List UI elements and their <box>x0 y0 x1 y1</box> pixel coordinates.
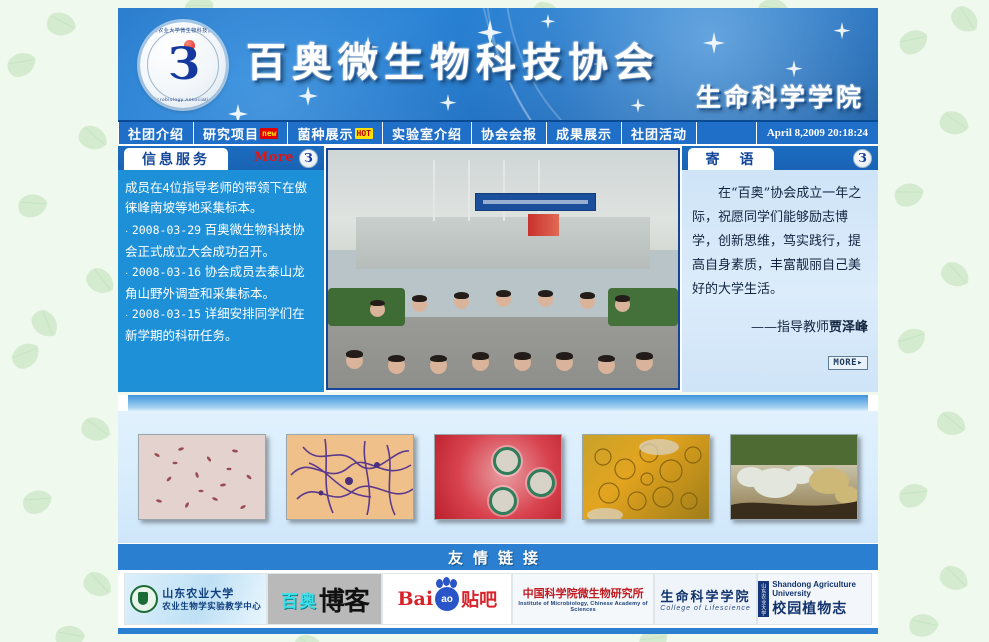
link-college-of-life-sciences[interactable]: 生命科学学院 College of Lifescience <box>654 573 757 625</box>
nav-label: 成果展示 <box>556 124 612 143</box>
person-figure <box>370 302 385 317</box>
link-line-3: 贴吧 <box>461 586 497 612</box>
person-head <box>370 302 385 317</box>
person-figure <box>472 354 489 371</box>
photo-red-banner <box>528 214 560 235</box>
hot-badge-icon: HOT <box>355 128 373 139</box>
bottom-strip <box>118 628 878 634</box>
photo-building <box>356 217 650 269</box>
info-panel-tab[interactable]: 信息服务 <box>124 148 228 170</box>
gallery-image-5[interactable] <box>730 434 858 520</box>
bacteria-smear-graphic <box>139 435 266 520</box>
news-date: 2008-03-15 <box>132 307 201 321</box>
antibiotic-disc <box>493 447 521 475</box>
gallery-image-4[interactable] <box>582 434 710 520</box>
main-navigation: 社团介绍 研究项目 new 菌种展示 HOT 实验室介绍 协会会报 成果展示 社… <box>118 122 878 146</box>
paw-icon: ao <box>435 587 459 611</box>
person-figure <box>538 292 553 307</box>
news-lead-text: 成员在4位指导老师的带领下在傲徕峰南坡等地采集标本。 <box>125 178 317 218</box>
link-line-2: ao <box>441 594 453 605</box>
person-head <box>636 354 653 371</box>
gallery-divider-bar <box>128 395 868 411</box>
link-baiao-blog[interactable]: 百奥 博客 <box>267 573 382 625</box>
signature-name: 贾泽峰 <box>829 320 868 335</box>
nav-label: 协会会报 <box>481 124 537 143</box>
nav-label: 实验室介绍 <box>392 124 462 143</box>
photo-flagpole <box>503 160 505 222</box>
current-datetime: April 8,2009 20:18:24 <box>756 122 878 144</box>
person-head <box>538 292 553 307</box>
antibiotic-disc <box>489 487 517 515</box>
site-banner: 山东农业大学微生物科技协会 З Microbiology Association… <box>118 8 878 122</box>
university-emblem-icon <box>130 585 158 613</box>
person-head <box>454 294 469 309</box>
antibiotic-disc <box>527 469 555 497</box>
message-panel-body: 在“百奥”协会成立一年之际，祝愿同学们能够励志博学，创新思维，笃实践行，提高自身… <box>682 170 878 392</box>
link-line-2: College of Lifescience <box>660 605 751 612</box>
photo-banner-sign <box>475 193 596 212</box>
person-head <box>580 294 595 309</box>
news-item[interactable]: · 2008-03-15 详细安排同学们在新学期的科研任务。 <box>125 304 317 346</box>
photo-hedge-left <box>328 288 405 326</box>
message-text: 在“百奥”协会成立一年之际，祝愿同学们能够励志博学，创新思维，笃实践行，提高自身… <box>692 182 868 302</box>
link-line-1: Bai <box>398 588 434 610</box>
nav-item-bulletin[interactable]: 协会会报 <box>472 122 547 144</box>
person-head <box>496 292 511 307</box>
link-line-1: 山东农业大学 <box>162 587 261 601</box>
nav-label: 研究项目 <box>203 124 259 143</box>
nav-item-research-projects[interactable]: 研究项目 new <box>194 122 288 144</box>
person-head <box>412 297 427 312</box>
bullet-icon: · <box>125 268 128 279</box>
logo-ring-text-bottom: Microbiology Association <box>140 97 226 102</box>
info-panel-body: 成员在4位指导老师的带领下在傲徕峰南坡等地采集标本。 · 2008-03-29 … <box>118 170 324 384</box>
link-line-2: 校园植物志 <box>772 598 871 618</box>
link-line-1: Shandong Agriculture University <box>772 580 871 598</box>
logo-mark: З <box>140 42 226 88</box>
association-logo[interactable]: 山东农业大学微生物科技协会 З Microbiology Association <box>140 22 226 108</box>
person-figure <box>346 352 363 369</box>
info-panel-header: 信息服务 More З <box>118 146 324 170</box>
friend-links-row: 山东农业大学 农业生物学实验教学中心 百奥 博客 Bai ao 贴吧 中国科学院… <box>118 570 878 628</box>
foliose-lichen-graphic <box>731 435 858 520</box>
info-service-panel: 信息服务 More З 成员在4位指导老师的带领下在傲徕峰南坡等地采集标本。 ·… <box>118 146 324 392</box>
nav-label: 菌种展示 <box>297 124 353 143</box>
person-figure <box>636 354 653 371</box>
person-head <box>598 357 615 374</box>
gallery-strip <box>118 411 878 543</box>
nav-item-activities[interactable]: 社团活动 <box>622 122 697 144</box>
person-figure <box>598 357 615 374</box>
photo-ground <box>328 317 678 388</box>
person-figure <box>556 354 573 371</box>
message-more-button[interactable]: MORE▸ <box>828 356 868 370</box>
panel-logo-icon: З <box>299 149 318 168</box>
site-title: 百奥微生物科技协会 <box>246 30 660 88</box>
new-badge-icon: new <box>260 128 278 139</box>
news-date: 2008-03-16 <box>132 265 201 279</box>
message-panel-tab[interactable]: 寄 语 <box>688 148 774 170</box>
link-shandong-agricultural-university[interactable]: 山东农业大学 农业生物学实验教学中心 <box>124 573 267 625</box>
photo-flagpole <box>433 160 435 222</box>
person-head <box>346 352 363 369</box>
link-baidu-tieba[interactable]: Bai ao 贴吧 <box>382 573 512 625</box>
actinomycete-hyphae-graphic <box>287 435 414 520</box>
link-line-1: 生命科学学院 <box>660 586 751 605</box>
person-figure <box>615 297 630 312</box>
logo-ring-text-top: 山东农业大学微生物科技协会 <box>140 27 226 34</box>
nav-item-achievements[interactable]: 成果展示 <box>547 122 622 144</box>
photo-flagpole <box>538 160 540 222</box>
person-head <box>556 354 573 371</box>
group-photo[interactable] <box>326 148 680 390</box>
person-figure <box>454 294 469 309</box>
link-campus-flora[interactable]: 山东农业大学 Shandong Agriculture University 校… <box>757 573 872 625</box>
person-figure <box>580 294 595 309</box>
gallery-image-3[interactable] <box>434 434 562 520</box>
nav-label: 社团活动 <box>631 124 687 143</box>
person-figure <box>412 297 427 312</box>
person-figure <box>496 292 511 307</box>
news-item[interactable]: · 2008-03-16 协会成员去泰山龙角山野外调查和采集标本。 <box>125 262 317 304</box>
site-subtitle: 生命科学学院 <box>696 78 864 114</box>
link-institute-of-microbiology-cas[interactable]: 中国科学院微生物研究所 Institute of Microbiology, C… <box>512 573 654 625</box>
message-signature: ——指导教师贾泽峰 <box>692 316 868 335</box>
nav-item-lab-intro[interactable]: 实验室介绍 <box>383 122 472 144</box>
gallery-section <box>118 395 878 543</box>
person-head <box>430 357 447 374</box>
nav-item-club-intro[interactable]: 社团介绍 <box>118 122 194 144</box>
news-date: 2008-03-29 <box>132 223 201 237</box>
bullet-icon: · <box>125 310 128 321</box>
nav-item-strain-display[interactable]: 菌种展示 HOT <box>288 122 382 144</box>
person-figure <box>430 357 447 374</box>
person-figure <box>388 357 405 374</box>
panel-logo-icon: З <box>853 149 872 168</box>
link-side-text: 山东农业大学 <box>758 581 769 617</box>
gallery-image-2[interactable] <box>286 434 414 520</box>
message-panel: 寄 语 З 在“百奥”协会成立一年之际，祝愿同学们能够励志博学，创新思维，笃实践… <box>682 146 878 392</box>
link-line-1: 中国科学院微生物研究所 <box>513 585 653 601</box>
link-line-2: 农业生物学实验教学中心 <box>162 601 261 612</box>
photo-flagpole <box>468 160 470 222</box>
link-line-2: 博客 <box>319 581 369 618</box>
news-item[interactable]: · 2008-03-29 百奥微生物科技协会正式成立大会成功召开。 <box>125 220 317 262</box>
nav-label: 社团介绍 <box>128 124 184 143</box>
gallery-image-1[interactable] <box>138 434 266 520</box>
orange-lichen-graphic <box>583 435 710 520</box>
bullet-icon: · <box>125 226 128 237</box>
feature-photo-panel <box>324 146 682 392</box>
person-head <box>388 357 405 374</box>
page-container: 山东农业大学微生物科技协会 З Microbiology Association… <box>118 8 878 642</box>
content-row: 信息服务 More З 成员在4位指导老师的带领下在傲徕峰南坡等地采集标本。 ·… <box>118 146 878 392</box>
person-figure <box>514 354 531 371</box>
person-head <box>514 354 531 371</box>
info-more-link[interactable]: More <box>254 150 294 165</box>
friend-links-title: 友情链接 <box>118 543 878 570</box>
link-line-2: Institute of Microbiology, Chinese Acade… <box>513 601 653 613</box>
message-panel-header: 寄 语 З <box>682 146 878 170</box>
person-head <box>472 354 489 371</box>
signature-prefix: ——指导教师 <box>751 320 829 335</box>
person-head <box>615 297 630 312</box>
link-line-1: 百奥 <box>281 587 317 612</box>
